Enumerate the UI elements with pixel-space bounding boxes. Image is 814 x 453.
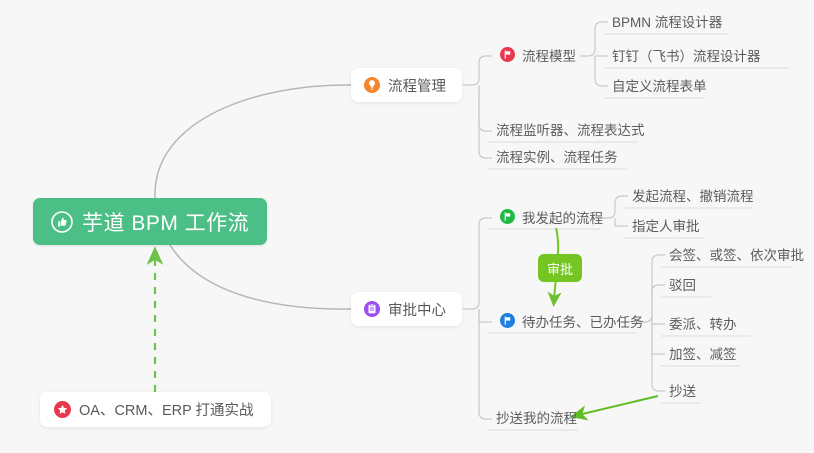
node-cc-my-flows-label: 抄送我的流程 [496, 407, 577, 427]
flag-circle-icon [500, 313, 515, 328]
cc-flow-arrow [578, 396, 658, 415]
link-approval-center-bracket [463, 218, 492, 309]
node-process-model[interactable]: 流程模型 [492, 43, 584, 69]
root-node[interactable]: 芋道 BPM 工作流 [33, 198, 267, 245]
node-cc-label: 抄送 [669, 380, 696, 400]
branch-node-approval-center[interactable]: 审批中心 [351, 292, 462, 326]
annotation-node-integration-label: OA、CRM、ERP 打通实战 [79, 399, 254, 420]
node-delegate-transfer-label: 委派、转办 [669, 313, 737, 333]
branch-node-approval-center-label: 审批中心 [388, 299, 446, 320]
node-todo-done-tasks[interactable]: 待办任务、已办任务 [492, 309, 652, 335]
node-reject-label: 驳回 [669, 274, 696, 294]
node-my-initiated-flows[interactable]: 我发起的流程 [492, 205, 611, 231]
approval-badge[interactable]: 审批 [538, 254, 582, 282]
node-countersign-label: 会签、或签、依次审批 [669, 244, 804, 264]
node-process-instance[interactable]: 流程实例、流程任务 [488, 144, 626, 170]
mindmap-canvas: 芋道 BPM 工作流 流程管理 流程模型 BPMN 流程设计器 钉钉（飞书）流程 [0, 0, 814, 453]
node-process-model-label: 流程模型 [522, 45, 576, 65]
link-root-to-approval-center [170, 245, 351, 309]
link-approval-center-child-2 [479, 309, 492, 322]
branch-node-process-management[interactable]: 流程管理 [351, 68, 462, 102]
node-bpmn-designer-label: BPMN 流程设计器 [612, 11, 722, 31]
link-approval-center-child-3 [479, 309, 492, 419]
flag-circle-icon [500, 209, 515, 224]
annotation-node-integration[interactable]: OA、CRM、ERP 打通实战 [40, 392, 271, 427]
flag-circle-icon [500, 47, 515, 62]
link-process-management-bracket [463, 56, 492, 85]
node-add-remove-sign-label: 加签、减签 [669, 343, 737, 363]
thumbs-up-icon [51, 211, 73, 233]
approval-badge-label: 审批 [547, 259, 573, 278]
node-start-cancel-flow-label: 发起流程、撤销流程 [632, 185, 754, 205]
node-process-listener-label: 流程监听器、流程表达式 [496, 119, 645, 139]
node-todo-done-tasks-label: 待办任务、已办任务 [522, 311, 644, 331]
node-custom-form-label: 自定义流程表单 [612, 75, 707, 95]
node-cc[interactable]: 抄送 [661, 378, 704, 404]
node-dingtalk-designer[interactable]: 钉钉（飞书）流程设计器 [604, 43, 769, 69]
node-countersign[interactable]: 会签、或签、依次审批 [661, 242, 812, 268]
node-add-remove-sign[interactable]: 加签、减签 [661, 341, 745, 367]
clipboard-circle-icon [364, 301, 380, 317]
node-start-cancel-flow[interactable]: 发起流程、撤销流程 [624, 183, 762, 209]
star-circle-icon [54, 401, 71, 418]
node-custom-form[interactable]: 自定义流程表单 [604, 73, 715, 99]
root-node-label: 芋道 BPM 工作流 [82, 207, 249, 237]
node-process-listener[interactable]: 流程监听器、流程表达式 [488, 117, 653, 143]
node-delegate-transfer[interactable]: 委派、转办 [661, 311, 745, 337]
node-process-instance-label: 流程实例、流程任务 [496, 146, 618, 166]
node-cc-my-flows[interactable]: 抄送我的流程 [488, 405, 585, 431]
link-root-to-process-management [155, 85, 351, 198]
node-assignee-approval-label: 指定人审批 [632, 215, 700, 235]
node-assignee-approval[interactable]: 指定人审批 [624, 213, 708, 239]
node-bpmn-designer[interactable]: BPMN 流程设计器 [604, 9, 730, 35]
lightbulb-circle-icon [364, 77, 380, 93]
node-my-initiated-flows-label: 我发起的流程 [522, 207, 603, 227]
node-reject[interactable]: 驳回 [661, 272, 704, 298]
branch-node-process-management-label: 流程管理 [388, 75, 446, 96]
node-dingtalk-designer-label: 钉钉（飞书）流程设计器 [612, 45, 761, 65]
